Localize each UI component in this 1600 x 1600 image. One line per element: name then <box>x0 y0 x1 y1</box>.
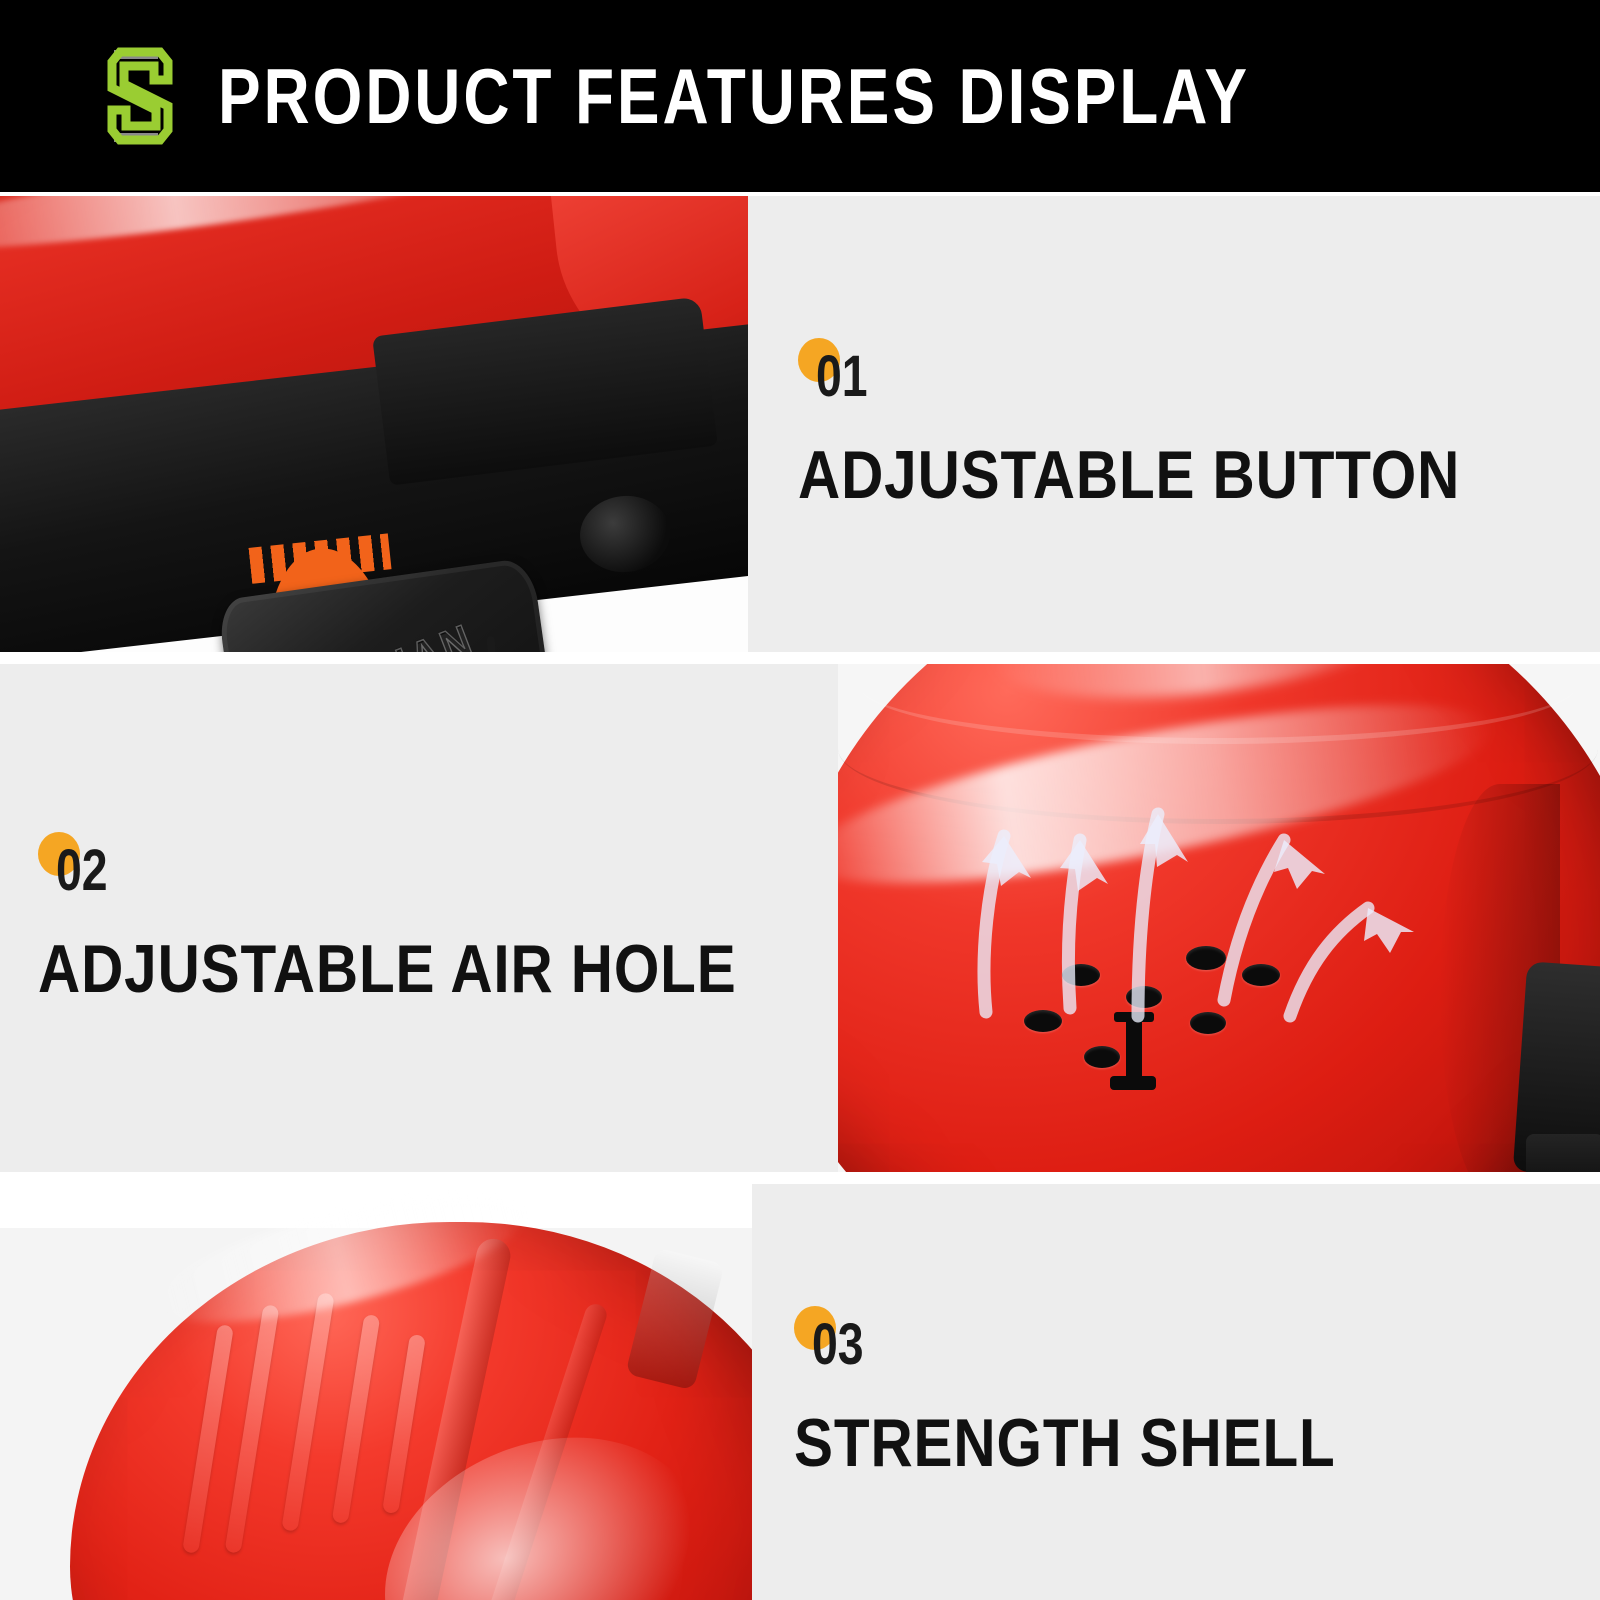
feature-1-caption: ADJUSTABLE BUTTON <box>798 440 1488 511</box>
feature-2-number: 02 <box>56 842 108 900</box>
helmet-reinforced-shell-photo <box>0 1184 752 1600</box>
feature-row-1: AN JIAN 01 ADJUSTABLE BUTTON <box>0 196 1600 652</box>
s-monogram-logo-icon <box>88 44 184 148</box>
page-header: PRODUCT FEATURES DISPLAY <box>0 0 1600 192</box>
feature-3-number-badge: 03 <box>794 1304 1600 1374</box>
feature-row-3: 03 STRENGTH SHELL <box>0 1184 1600 1600</box>
feature-2-text-panel: 02 ADJUSTABLE AIR HOLE <box>0 664 838 1172</box>
product-features-display-page: PRODUCT FEATURES DISPLAY AN JIAN <box>0 0 1600 1600</box>
feature-1-number-badge: 01 <box>798 336 1600 406</box>
feature-2-number-badge: 02 <box>38 830 838 900</box>
feature-2-caption: ADJUSTABLE AIR HOLE <box>38 934 726 1005</box>
feature-1-text-panel: 01 ADJUSTABLE BUTTON <box>748 196 1600 652</box>
page-title: PRODUCT FEATURES DISPLAY <box>218 51 1250 142</box>
embossed-brand-text: AN JIAN <box>292 615 481 652</box>
feature-3-text-panel: 03 STRENGTH SHELL <box>752 1184 1600 1600</box>
feature-3-number: 03 <box>812 1316 864 1374</box>
feature-row-2: 02 ADJUSTABLE AIR HOLE <box>0 664 1600 1172</box>
helmet-air-vent-holes-photo <box>838 664 1600 1172</box>
feature-1-number: 01 <box>816 348 868 406</box>
helmet-ratchet-adjuster-photo: AN JIAN <box>0 196 748 652</box>
feature-3-caption: STRENGTH SHELL <box>794 1408 1487 1479</box>
